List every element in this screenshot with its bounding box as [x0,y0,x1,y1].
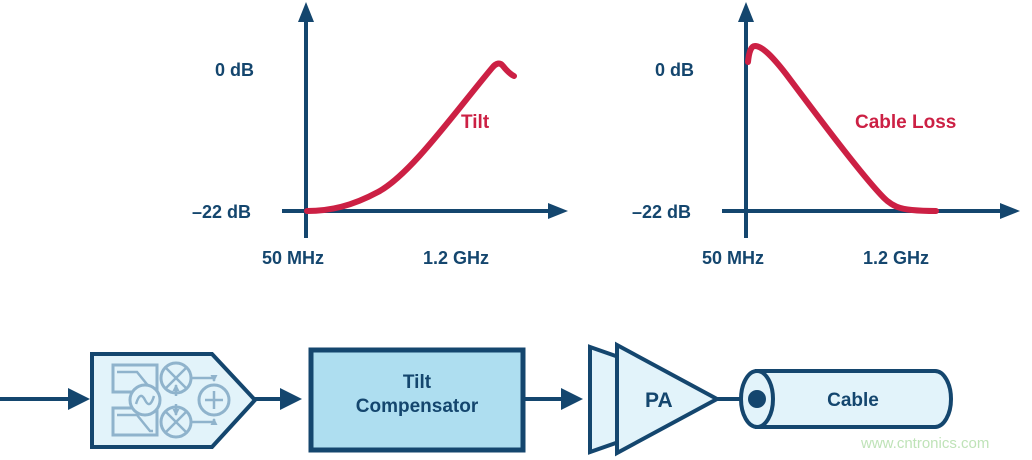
tilt-y-axis-arrowhead [298,2,314,22]
cable-loss-curve-label: Cable Loss [855,112,956,133]
power-amplifier-block[interactable]: PA [590,345,717,453]
cableloss-x-end-label: 1.2 GHz [863,248,929,268]
cable-block[interactable]: Cable [741,371,951,427]
tilt-curve-label: Tilt [461,112,490,133]
cableloss-y-axis-arrowhead [738,2,754,22]
tilt-compensator-block[interactable]: Tilt Compensator [311,350,523,450]
tilt-x-end-label: 1.2 GHz [423,248,489,268]
cableloss-y-top-label: 0 dB [655,60,694,80]
cable-loss-chart: 0 dB –22 dB 50 MHz 1.2 GHz Cable Loss [632,2,1020,268]
tilt-compensator-label-line2: Compensator [356,396,479,417]
input-signal-arrowhead [68,388,90,410]
pa-label: PA [645,389,673,412]
diagram-root: 0 dB –22 dB 50 MHz 1.2 GHz Tilt 0 dB –22… [0,0,1032,460]
watermark: www.cntronics.com [860,435,989,452]
cable-center-conductor-icon [748,390,766,408]
cableloss-x-axis-arrowhead [1000,203,1020,219]
tilt-compensator-label-line1: Tilt [403,372,432,393]
quadrature-modulator-block[interactable] [92,354,255,447]
cableloss-x-start-label: 50 MHz [702,248,764,268]
tilt-y-bottom-label: –22 dB [192,202,251,222]
link-modulator-to-compensator-arrowhead [280,388,302,410]
cableloss-y-bottom-label: –22 dB [632,202,691,222]
tilt-chart: 0 dB –22 dB 50 MHz 1.2 GHz Tilt [192,2,568,268]
tilt-curve [307,64,514,211]
figure-canvas: 0 dB –22 dB 50 MHz 1.2 GHz Tilt 0 dB –22… [0,0,1032,460]
tilt-x-start-label: 50 MHz [262,248,324,268]
local-oscillator-icon [130,385,160,415]
summer-icon [199,385,229,415]
link-compensator-to-pa-arrowhead [561,388,583,410]
tilt-x-axis-arrowhead [548,203,568,219]
tilt-y-top-label: 0 dB [215,60,254,80]
cable-label: Cable [827,390,879,411]
